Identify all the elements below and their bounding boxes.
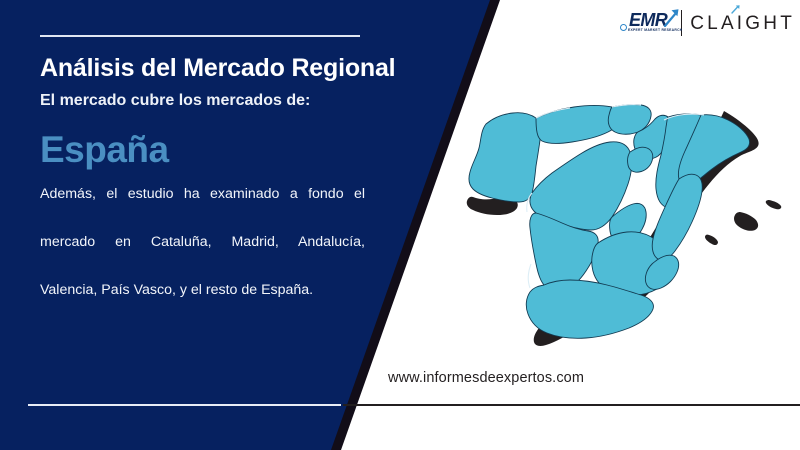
country-name: España	[40, 126, 169, 174]
claight-accent-icon	[731, 5, 741, 15]
body-line-2: mercado en Cataluña, Madrid, Andalucía,	[40, 230, 365, 278]
region-la-rioja	[628, 147, 653, 172]
emr-circle-icon	[620, 24, 627, 31]
top-divider-rule	[40, 35, 360, 37]
website-url[interactable]: www.informesdeexpertos.com	[388, 370, 584, 386]
island-shadow-ibiza	[705, 235, 718, 245]
emr-logo[interactable]: EMR EXPERT MARKET RESEARCH	[620, 8, 679, 38]
page-title: Análisis del Mercado Regional	[40, 53, 460, 83]
body-paragraph: Además, el estudio ha examinado a fondo …	[40, 182, 365, 302]
map-spain	[452, 72, 800, 362]
emr-arrow-icon	[662, 7, 684, 27]
claight-text: CLAIGHT	[690, 13, 795, 34]
map-spain-svg	[452, 72, 800, 362]
poster-canvas: Análisis del Mercado Regional El mercado…	[0, 0, 800, 450]
island-shadow-menorca	[766, 200, 782, 209]
footer-rule-right	[343, 404, 800, 406]
body-line-1: Además, el estudio ha examinado a fondo …	[40, 182, 365, 230]
footer-rule-left	[28, 404, 341, 406]
border-highlight-southwest	[528, 264, 531, 288]
body-line-3: Valencia, País Vasco, y el resto de Espa…	[40, 278, 365, 302]
emr-tagline: EXPERT MARKET RESEARCH	[628, 28, 682, 32]
map-regions-group	[469, 105, 750, 339]
region-galicia	[469, 113, 541, 202]
island-shadow-mallorca	[734, 212, 758, 231]
page-subtitle: El mercado cubre los mercados de:	[40, 90, 440, 112]
logo-lockup[interactable]: EMR EXPERT MARKET RESEARCH CLAIGHT	[620, 6, 795, 40]
claight-wordmark: CLAIGHT	[690, 14, 795, 33]
